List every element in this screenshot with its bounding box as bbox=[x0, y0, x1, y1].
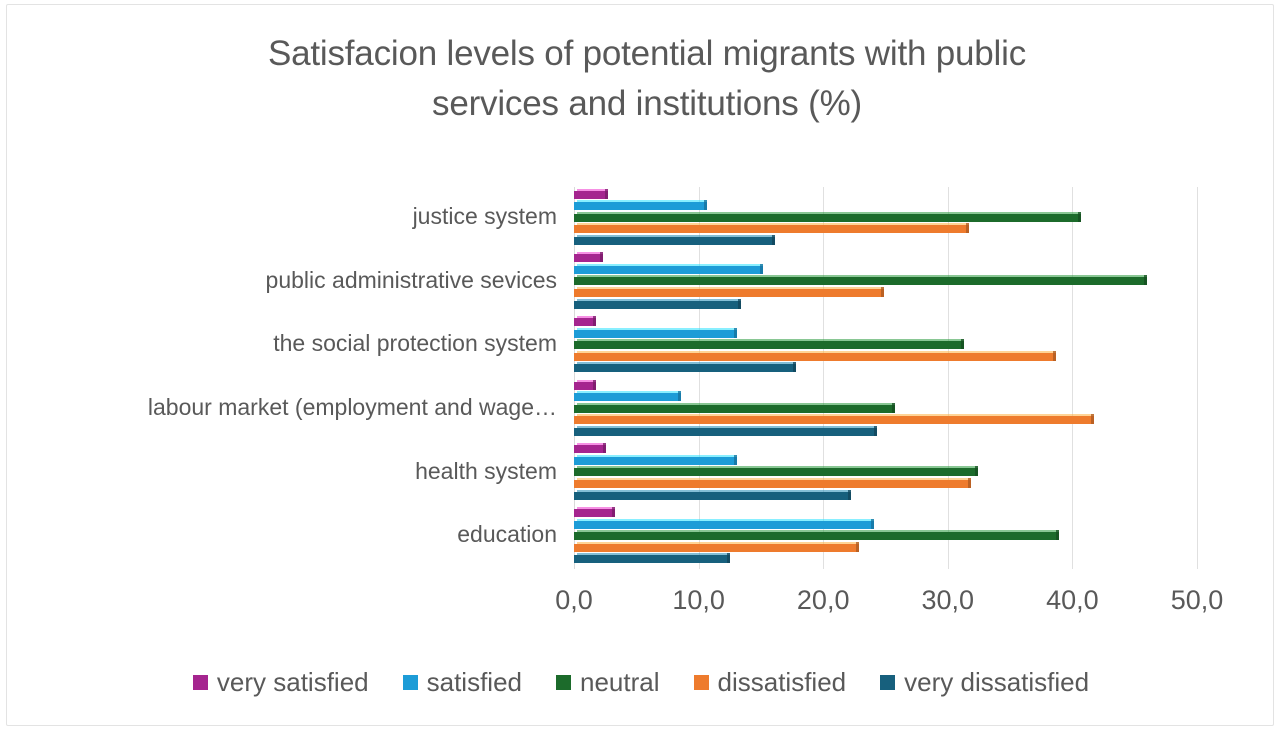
bar-body bbox=[574, 237, 775, 245]
bar-highlight bbox=[577, 519, 874, 521]
bar-cap bbox=[1053, 351, 1056, 361]
bar[interactable] bbox=[574, 362, 796, 372]
bar-cap bbox=[600, 252, 603, 262]
bar-cap bbox=[603, 443, 606, 453]
legend-item-very-dissatisfied[interactable]: very dissatisfied bbox=[880, 667, 1089, 698]
bar[interactable] bbox=[574, 530, 1059, 540]
bar-highlight bbox=[577, 542, 859, 544]
bar-cap bbox=[727, 553, 730, 563]
bar-body bbox=[574, 544, 859, 552]
bar-highlight bbox=[577, 351, 1056, 353]
bar-highlight bbox=[577, 275, 1147, 277]
bar-cap bbox=[961, 339, 964, 349]
bar[interactable] bbox=[574, 414, 1094, 424]
bar[interactable] bbox=[574, 542, 859, 552]
bar-body bbox=[574, 289, 884, 297]
bar-highlight bbox=[577, 466, 978, 468]
bar-cap bbox=[1056, 530, 1059, 540]
bar[interactable] bbox=[574, 443, 606, 453]
bar-body bbox=[574, 416, 1094, 424]
bar[interactable] bbox=[574, 519, 874, 529]
bar-cap bbox=[612, 507, 615, 517]
bar-highlight bbox=[577, 403, 895, 405]
bar-highlight bbox=[577, 490, 851, 492]
bar[interactable] bbox=[574, 391, 681, 401]
bar-body bbox=[574, 509, 615, 517]
bar[interactable] bbox=[574, 351, 1056, 361]
bar-cap bbox=[881, 287, 884, 297]
bar[interactable] bbox=[574, 490, 851, 500]
legend-swatch-icon bbox=[694, 675, 709, 690]
bar-body bbox=[574, 555, 730, 563]
bar-cap bbox=[975, 466, 978, 476]
bar-cap bbox=[968, 478, 971, 488]
legend-swatch-icon bbox=[403, 675, 418, 690]
legend-swatch-icon bbox=[880, 675, 895, 690]
bar-body bbox=[574, 254, 603, 262]
category-label-4: labour market (employment and wage… bbox=[17, 394, 557, 421]
legend-swatch-icon bbox=[556, 675, 571, 690]
x-tick-label-1: 10,0 bbox=[639, 585, 759, 616]
bar-body bbox=[574, 492, 851, 500]
legend-label: very dissatisfied bbox=[904, 667, 1089, 698]
bar-body bbox=[574, 393, 681, 401]
category-label-1: justice system bbox=[17, 203, 557, 230]
bar[interactable] bbox=[574, 478, 971, 488]
bar-cap bbox=[793, 362, 796, 372]
bar-group bbox=[574, 505, 1197, 569]
category-label-5: health system bbox=[17, 458, 557, 485]
bar-group bbox=[574, 251, 1197, 315]
legend-label: neutral bbox=[580, 667, 660, 698]
bar[interactable] bbox=[574, 189, 608, 199]
bar-highlight bbox=[577, 455, 737, 457]
chart-title-line-1: Satisfacion levels of potential migrants… bbox=[147, 29, 1147, 79]
chart-title-line-2: services and institutions (%) bbox=[147, 79, 1147, 129]
plot-area bbox=[574, 187, 1197, 569]
bar-highlight bbox=[577, 507, 615, 509]
legend-label: very satisfied bbox=[217, 667, 369, 698]
bar-highlight bbox=[577, 391, 681, 393]
bar[interactable] bbox=[574, 328, 737, 338]
x-tick-label-2: 20,0 bbox=[763, 585, 883, 616]
bar[interactable] bbox=[574, 426, 877, 436]
bar-body bbox=[574, 330, 737, 338]
bar[interactable] bbox=[574, 275, 1147, 285]
bar-body bbox=[574, 202, 707, 210]
bar-body bbox=[574, 191, 608, 199]
legend-label: satisfied bbox=[427, 667, 522, 698]
bar-highlight bbox=[577, 299, 741, 301]
bar-highlight bbox=[577, 287, 884, 289]
legend-item-satisfied[interactable]: satisfied bbox=[403, 667, 522, 698]
bar-body bbox=[574, 277, 1147, 285]
bar-highlight bbox=[577, 478, 971, 480]
x-tick-label-0: 0,0 bbox=[514, 585, 634, 616]
x-tick-label-5: 50,0 bbox=[1137, 585, 1257, 616]
bar-highlight bbox=[577, 189, 608, 191]
bar-cap bbox=[772, 235, 775, 245]
bar-cap bbox=[856, 542, 859, 552]
bar-cap bbox=[734, 328, 737, 338]
legend-swatch-icon bbox=[193, 675, 208, 690]
bar-highlight bbox=[577, 328, 737, 330]
bar[interactable] bbox=[574, 212, 1081, 222]
bar-highlight bbox=[577, 414, 1094, 416]
bar-body bbox=[574, 266, 763, 274]
bar-highlight bbox=[577, 264, 763, 266]
bar-body bbox=[574, 225, 969, 233]
bar-body bbox=[574, 532, 1059, 540]
bar-cap bbox=[678, 391, 681, 401]
bar-cap bbox=[593, 380, 596, 390]
bar-group bbox=[574, 442, 1197, 506]
bar[interactable] bbox=[574, 466, 978, 476]
value-axis: 0,010,020,030,040,050,0 bbox=[574, 585, 1197, 625]
bar-cap bbox=[848, 490, 851, 500]
bar[interactable] bbox=[574, 264, 763, 274]
bar-body bbox=[574, 480, 971, 488]
bar-highlight bbox=[577, 426, 877, 428]
legend-item-very-satisfied[interactable]: very satisfied bbox=[193, 667, 369, 698]
bar[interactable] bbox=[574, 316, 596, 326]
gridline-50,0 bbox=[1197, 187, 1198, 569]
bar-body bbox=[574, 521, 874, 529]
bar[interactable] bbox=[574, 403, 895, 413]
bar-cap bbox=[892, 403, 895, 413]
bar-body bbox=[574, 341, 964, 349]
category-label-6: education bbox=[17, 521, 557, 548]
bar-cap bbox=[966, 223, 969, 233]
bar-body bbox=[574, 428, 877, 436]
bar-highlight bbox=[577, 553, 730, 555]
bar[interactable] bbox=[574, 223, 969, 233]
bar-group bbox=[574, 314, 1197, 378]
bar[interactable] bbox=[574, 287, 884, 297]
bar-body bbox=[574, 457, 737, 465]
bar-highlight bbox=[577, 200, 707, 202]
bar-body bbox=[574, 301, 741, 309]
bar-group bbox=[574, 378, 1197, 442]
category-label-3: the social protection system bbox=[17, 330, 557, 357]
bar-cap bbox=[760, 264, 763, 274]
bar-highlight bbox=[577, 223, 969, 225]
bar[interactable] bbox=[574, 455, 737, 465]
x-tick-label-3: 30,0 bbox=[888, 585, 1008, 616]
bar[interactable] bbox=[574, 553, 730, 563]
chart-title: Satisfacion levels of potential migrants… bbox=[147, 29, 1147, 129]
bar-highlight bbox=[577, 362, 796, 364]
bar-body bbox=[574, 468, 978, 476]
category-axis: justice systempublic administrative sevi… bbox=[17, 187, 565, 569]
bar-highlight bbox=[577, 443, 606, 445]
x-tick-label-4: 40,0 bbox=[1012, 585, 1132, 616]
bar-body bbox=[574, 364, 796, 372]
chart-card: Satisfacion levels of potential migrants… bbox=[6, 4, 1274, 726]
bar-cap bbox=[1091, 414, 1094, 424]
bar[interactable] bbox=[574, 200, 707, 210]
bar[interactable] bbox=[574, 507, 615, 517]
bar-highlight bbox=[577, 339, 964, 341]
bar-cap bbox=[593, 316, 596, 326]
bar-body bbox=[574, 405, 895, 413]
bar-highlight bbox=[577, 235, 775, 237]
bar-body bbox=[574, 445, 606, 453]
category-label-2: public administrative sevices bbox=[17, 267, 557, 294]
bar-cap bbox=[734, 455, 737, 465]
bar-group bbox=[574, 187, 1197, 251]
bar-body bbox=[574, 214, 1081, 222]
bar-cap bbox=[605, 189, 608, 199]
bar[interactable] bbox=[574, 339, 964, 349]
bar[interactable] bbox=[574, 252, 603, 262]
bar[interactable] bbox=[574, 380, 596, 390]
bar[interactable] bbox=[574, 299, 741, 309]
bar-highlight bbox=[577, 530, 1059, 532]
legend-item-neutral[interactable]: neutral bbox=[556, 667, 660, 698]
legend-label: dissatisfied bbox=[718, 667, 847, 698]
bar-cap bbox=[1078, 212, 1081, 222]
bar-cap bbox=[704, 200, 707, 210]
bar-cap bbox=[738, 299, 741, 309]
bar[interactable] bbox=[574, 235, 775, 245]
legend-item-dissatisfied[interactable]: dissatisfied bbox=[694, 667, 847, 698]
bar-cap bbox=[874, 426, 877, 436]
bar-body bbox=[574, 353, 1056, 361]
chart-legend: very satisfiedsatisfiedneutraldissatisfi… bbox=[7, 667, 1275, 698]
bar-cap bbox=[871, 519, 874, 529]
bar-highlight bbox=[577, 212, 1081, 214]
bar-cap bbox=[1144, 275, 1147, 285]
